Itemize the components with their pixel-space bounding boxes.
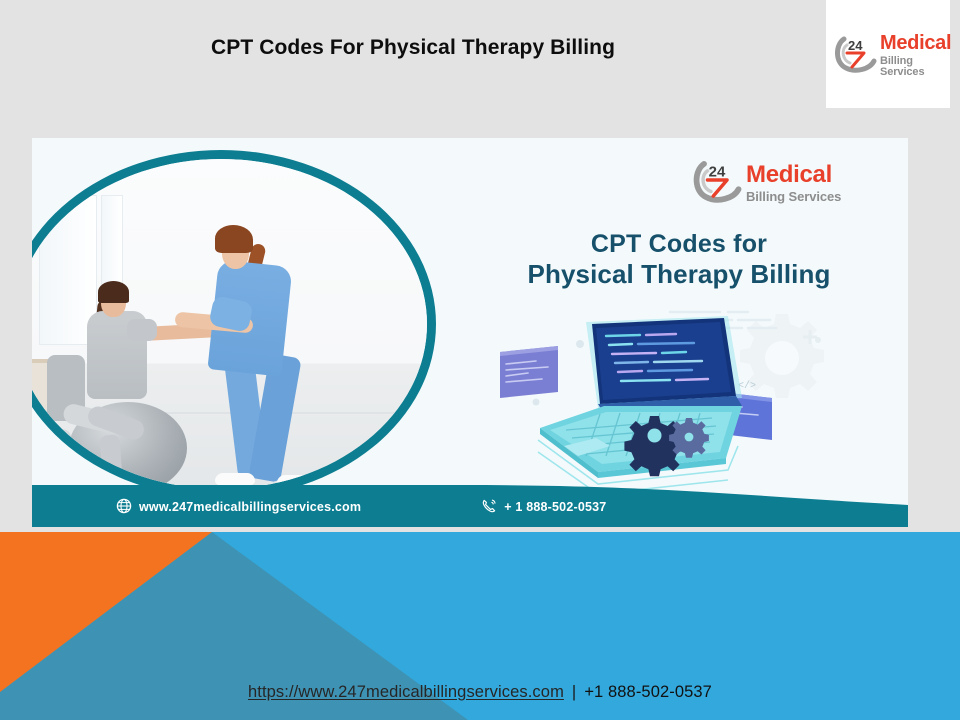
- headline-line-1: CPT Codes for: [450, 230, 908, 259]
- footer-phone-text: +1 888-502-0537: [584, 683, 712, 701]
- logo-secondary-text: Billing Services: [746, 190, 841, 203]
- slide-canvas: CPT Codes For Physical Therapy Billing 2…: [0, 0, 960, 720]
- svg-text:24: 24: [848, 38, 863, 53]
- banner-image: 24 Medical Billing Services CPT Codes fo…: [32, 138, 908, 527]
- footer-contact-line: https://www.247medicalbillingservices.co…: [0, 683, 960, 702]
- brand-logo-corner: 24 Medical Billing Services: [834, 33, 951, 78]
- photo-circle-frame: [32, 150, 436, 498]
- phone-call-icon: [481, 498, 497, 517]
- globe-icon: [116, 498, 132, 517]
- patient-sleeve: [127, 319, 157, 341]
- logo-secondary-text: Billing Services: [880, 56, 951, 78]
- banner-phone-contact[interactable]: + 1 888-502-0537: [481, 498, 606, 517]
- banner-contact-bar: www.247medicalbillingservices.com + 1 88…: [32, 475, 908, 527]
- logo-247-swoosh-icon: 24: [834, 33, 880, 78]
- banner-website-text: www.247medicalbillingservices.com: [139, 500, 361, 514]
- code-card-left: [500, 346, 558, 398]
- footer-separator: |: [572, 683, 576, 701]
- therapist-hair: [215, 225, 253, 253]
- svg-text:</>: </>: [738, 380, 756, 392]
- therapy-photo: [32, 159, 427, 489]
- banner-headline: CPT Codes for Physical Therapy Billing: [450, 230, 908, 289]
- logo-247-swoosh-icon: 24: [692, 157, 746, 208]
- banner-contacts: www.247medicalbillingservices.com + 1 88…: [32, 487, 908, 527]
- svg-text:24: 24: [709, 164, 726, 181]
- logo-wordmark: Medical Billing Services: [880, 33, 951, 78]
- page-title: CPT Codes For Physical Therapy Billing: [0, 35, 826, 61]
- patient-hair: [98, 281, 129, 303]
- banner-phone-text: + 1 888-502-0537: [504, 500, 606, 514]
- patient-shin-left: [46, 428, 72, 478]
- headline-line-2: Physical Therapy Billing: [450, 259, 908, 289]
- corner-logo-box: 24 Medical Billing Services: [826, 0, 950, 108]
- logo-wordmark: Medical Billing Services: [746, 163, 841, 203]
- banner-website-contact[interactable]: www.247medicalbillingservices.com: [116, 498, 361, 517]
- logo-primary-text: Medical: [880, 33, 951, 53]
- laptop-illustration: < > </>: [480, 306, 908, 496]
- gear-icon-small: [669, 418, 709, 458]
- footer-website-link[interactable]: https://www.247medicalbillingservices.co…: [248, 683, 564, 701]
- logo-primary-text: Medical: [746, 163, 841, 187]
- brand-logo-banner: 24 Medical Billing Services: [692, 157, 841, 208]
